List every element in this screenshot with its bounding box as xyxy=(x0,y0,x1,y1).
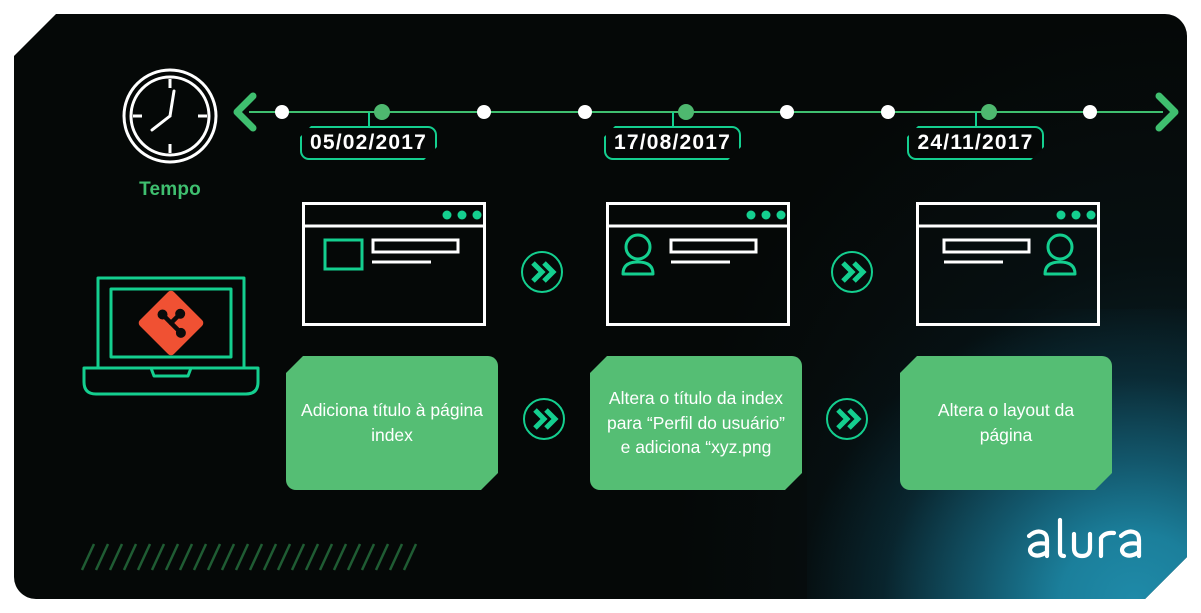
window-dot xyxy=(1072,211,1081,220)
content-card: Tempo xyxy=(14,14,1187,599)
timeline-dot xyxy=(275,105,289,119)
browser-window-2 xyxy=(606,202,790,326)
slide-canvas: Tempo xyxy=(0,0,1201,613)
content-box xyxy=(373,240,458,252)
window-dot xyxy=(777,211,786,220)
tempo-label: Tempo xyxy=(114,179,226,201)
timeline-dot-active xyxy=(981,104,997,120)
clock-icon xyxy=(114,66,226,166)
date-badge-1: 05/02/2017 xyxy=(300,126,437,160)
timeline-dot xyxy=(477,105,491,119)
timeline-dot-active xyxy=(678,104,694,120)
tempo-group: Tempo xyxy=(114,66,226,201)
double-chevron-right-icon xyxy=(535,410,555,428)
date-badge-3: 24/11/2017 xyxy=(907,126,1044,160)
commit-card-text: Adiciona título à página index xyxy=(300,398,484,448)
date-badge-2: 17/08/2017 xyxy=(604,126,741,160)
browser-window-1 xyxy=(302,202,486,326)
window-dot xyxy=(762,211,771,220)
connector-bottom-1 xyxy=(522,397,566,441)
timeline-dot xyxy=(780,105,794,119)
date-badge-label: 05/02/2017 xyxy=(310,131,427,155)
timeline-dot xyxy=(578,105,592,119)
commit-card-2: Altera o título da index para “Perfil do… xyxy=(590,356,802,490)
date-badge-label: 17/08/2017 xyxy=(614,131,731,155)
connector-bottom-2 xyxy=(825,397,869,441)
user-avatar-icon xyxy=(1045,235,1075,274)
user-avatar-icon xyxy=(623,235,653,274)
window-dot xyxy=(1087,211,1096,220)
double-chevron-right-icon xyxy=(843,263,863,281)
window-dot xyxy=(458,211,467,220)
window-dot xyxy=(1057,211,1066,220)
timeline-dot xyxy=(1083,105,1097,119)
commit-card-3: Altera o layout da página xyxy=(900,356,1112,490)
double-chevron-right-icon xyxy=(533,263,553,281)
diagonal-stripes-decoration xyxy=(74,538,419,576)
commit-card-text: Altera o título da index para “Perfil do… xyxy=(604,386,788,461)
image-placeholder-icon xyxy=(325,240,362,269)
connector-top-1 xyxy=(520,250,564,294)
browser-window-3 xyxy=(916,202,1100,326)
window-dot xyxy=(443,211,452,220)
commit-card-text: Altera o layout da página xyxy=(914,398,1098,448)
laptop-git-icon xyxy=(76,272,266,400)
double-chevron-right-icon xyxy=(838,410,858,428)
commit-card-1: Adiciona título à página index xyxy=(286,356,498,490)
content-box xyxy=(671,240,756,252)
date-badge-label: 24/11/2017 xyxy=(918,131,1034,155)
timeline-dot-active xyxy=(374,104,390,120)
window-dot xyxy=(473,211,482,220)
timeline-dot xyxy=(881,105,895,119)
alura-logo xyxy=(1025,514,1143,564)
connector-top-2 xyxy=(830,250,874,294)
content-box xyxy=(944,240,1029,252)
window-dot xyxy=(747,211,756,220)
